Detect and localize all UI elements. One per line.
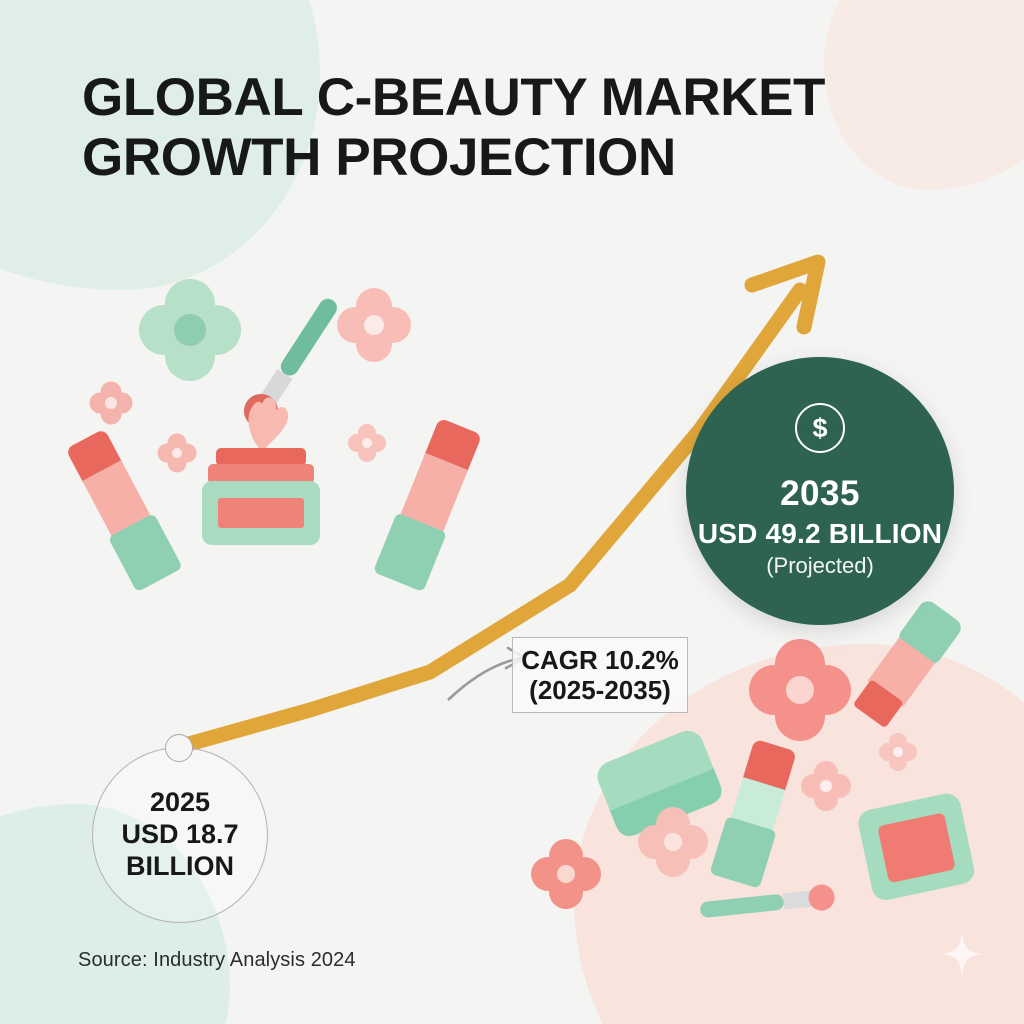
lipstick-center-bottom-icon [709, 738, 800, 889]
endpoint-2025-value: USD 18.7 [121, 819, 238, 851]
infographic-canvas: GLOBAL C-BEAUTY MARKET GROWTH PROJECTION [0, 0, 1024, 1024]
dollar-icon: $ [795, 403, 845, 453]
cagr-value: CAGR 10.2% [521, 645, 679, 675]
makeup-brush-bottom-icon [699, 883, 836, 923]
cream-jar-icon [202, 397, 320, 545]
lipstick-upper-right-icon [849, 597, 964, 730]
endpoint-2025-year: 2025 [150, 787, 210, 819]
lipstick-right-icon [373, 416, 486, 592]
endpoint-2035-year: 2035 [780, 475, 860, 514]
flower-pink-left-edge-br-icon [531, 839, 601, 909]
flower-mint-large-icon [139, 279, 241, 381]
endpoint-2035-note: (Projected) [766, 553, 874, 579]
flower-pink-small-left-icon [90, 382, 133, 425]
flower-pink-small-center-icon [158, 434, 197, 473]
endpoint-2035-value: USD 49.2 BILLION [698, 518, 942, 550]
dollar-glyph: $ [812, 415, 827, 442]
cagr-callout-box[interactable]: CAGR 10.2% (2025-2035) [512, 637, 688, 713]
endpoint-2025-circle[interactable]: 2025 USD 18.7 BILLION [92, 747, 268, 923]
cagr-period: (2025-2035) [529, 675, 671, 705]
compact-blush-icon [856, 791, 977, 903]
endpoint-2025-unit: BILLION [126, 851, 234, 883]
flower-pink-medium-icon [337, 288, 411, 362]
flower-pink-tiny-right-icon [348, 424, 386, 462]
data-point-marker-2025[interactable] [165, 734, 193, 762]
flower-pink-mid-br-icon [801, 761, 851, 811]
endpoint-2035-circle[interactable]: $ 2035 USD 49.2 BILLION (Projected) [686, 357, 954, 625]
source-note: Source: Industry Analysis 2024 [78, 949, 356, 972]
flower-pink-tiny-br-icon [879, 733, 917, 771]
flower-pink-large-br-icon [749, 639, 851, 741]
